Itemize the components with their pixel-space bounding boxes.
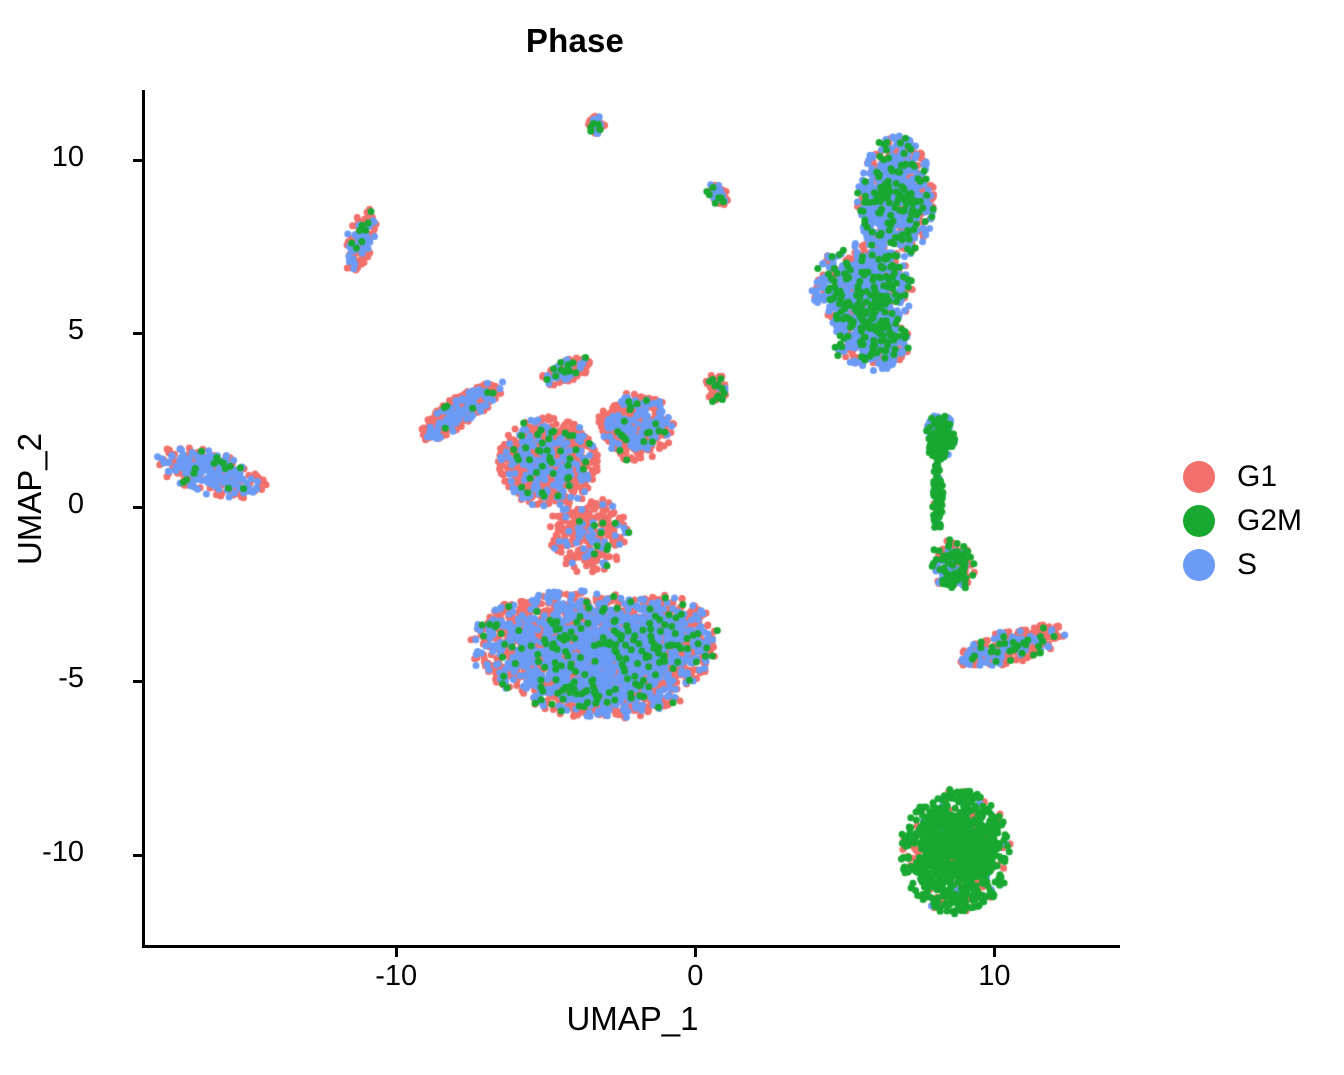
legend: G1G2MS: [1183, 455, 1302, 587]
legend-swatch-icon: [1183, 461, 1215, 493]
y-tick-mark: [133, 680, 142, 683]
y-tick-label: 10: [52, 141, 84, 174]
legend-item-g2m[interactable]: G2M: [1183, 499, 1302, 543]
x-tick-label: 10: [978, 960, 1010, 993]
y-tick-mark: [133, 332, 142, 335]
x-axis-line: [142, 945, 1120, 948]
x-axis-label: UMAP_1: [145, 1000, 1120, 1038]
y-tick-label: -10: [42, 836, 84, 869]
legend-item-g1[interactable]: G1: [1183, 455, 1302, 499]
x-tick-mark: [993, 948, 996, 957]
y-tick-mark: [133, 506, 142, 509]
legend-item-label: G2M: [1237, 506, 1302, 536]
plot-panel: [145, 90, 1120, 945]
x-tick-mark: [694, 948, 697, 957]
scatter-canvas: [145, 90, 1120, 945]
x-tick-label: -10: [375, 960, 417, 993]
legend-swatch-icon: [1183, 549, 1215, 581]
y-tick-label: 0: [68, 488, 84, 521]
y-tick-label: 5: [68, 314, 84, 347]
legend-item-s[interactable]: S: [1183, 543, 1302, 587]
y-tick-mark: [133, 159, 142, 162]
y-axis-label: UMAP_2: [11, 389, 49, 609]
legend-item-label: G1: [1237, 462, 1277, 492]
legend-item-label: S: [1237, 550, 1257, 580]
x-tick-mark: [395, 948, 398, 957]
y-axis-line: [142, 90, 145, 948]
umap-phase-plot: Phase -10-50510 -10010 UMAP_1 UMAP_2 G1G…: [0, 0, 1344, 1075]
y-tick-mark: [133, 854, 142, 857]
y-tick-label: -5: [58, 662, 84, 695]
legend-swatch-icon: [1183, 505, 1215, 537]
x-tick-label: 0: [687, 960, 703, 993]
page-title: Phase: [0, 22, 1150, 60]
